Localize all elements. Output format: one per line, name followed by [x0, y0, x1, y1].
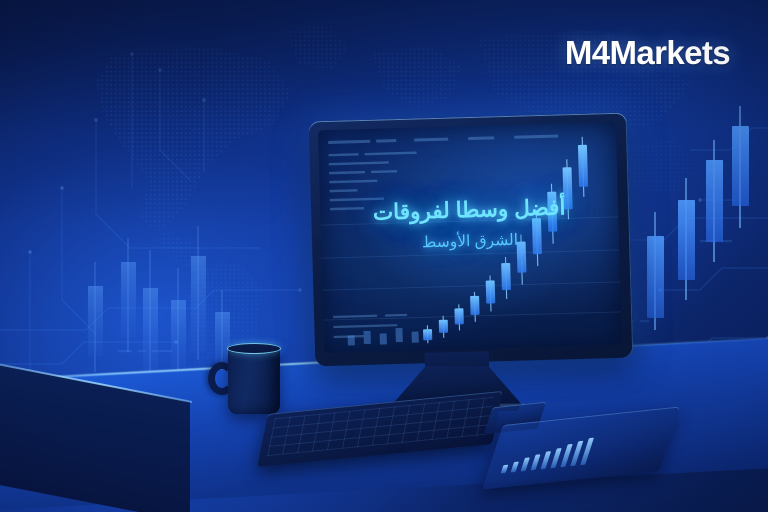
desktop-monitor[interactable]: أفضل وسطا لفروقات الشرق الأوسط [309, 113, 634, 367]
headline-line-2: الشرق الأوسط [321, 229, 619, 255]
mug-rim [227, 343, 281, 354]
tablet-bar [530, 454, 540, 470]
tablet-bar [540, 451, 551, 469]
coffee-mug[interactable] [205, 342, 283, 417]
tablet-bar [521, 458, 530, 472]
tablet-bar [511, 461, 520, 472]
tablet-bar [501, 464, 509, 473]
screen-headline: أفضل وسطا لفروقات الشرق الأوسط [320, 194, 619, 255]
headline-line-1: أفضل وسطا لفروقات [320, 194, 619, 226]
brand-logo: M4Markets [565, 34, 730, 72]
mug-body [228, 346, 280, 414]
monitor-screen[interactable]: أفضل وسطا لفروقات الشرق الأوسط [318, 122, 622, 353]
banner-stage: M4Markets [0, 0, 768, 512]
tablet-bar-chart [501, 432, 649, 474]
